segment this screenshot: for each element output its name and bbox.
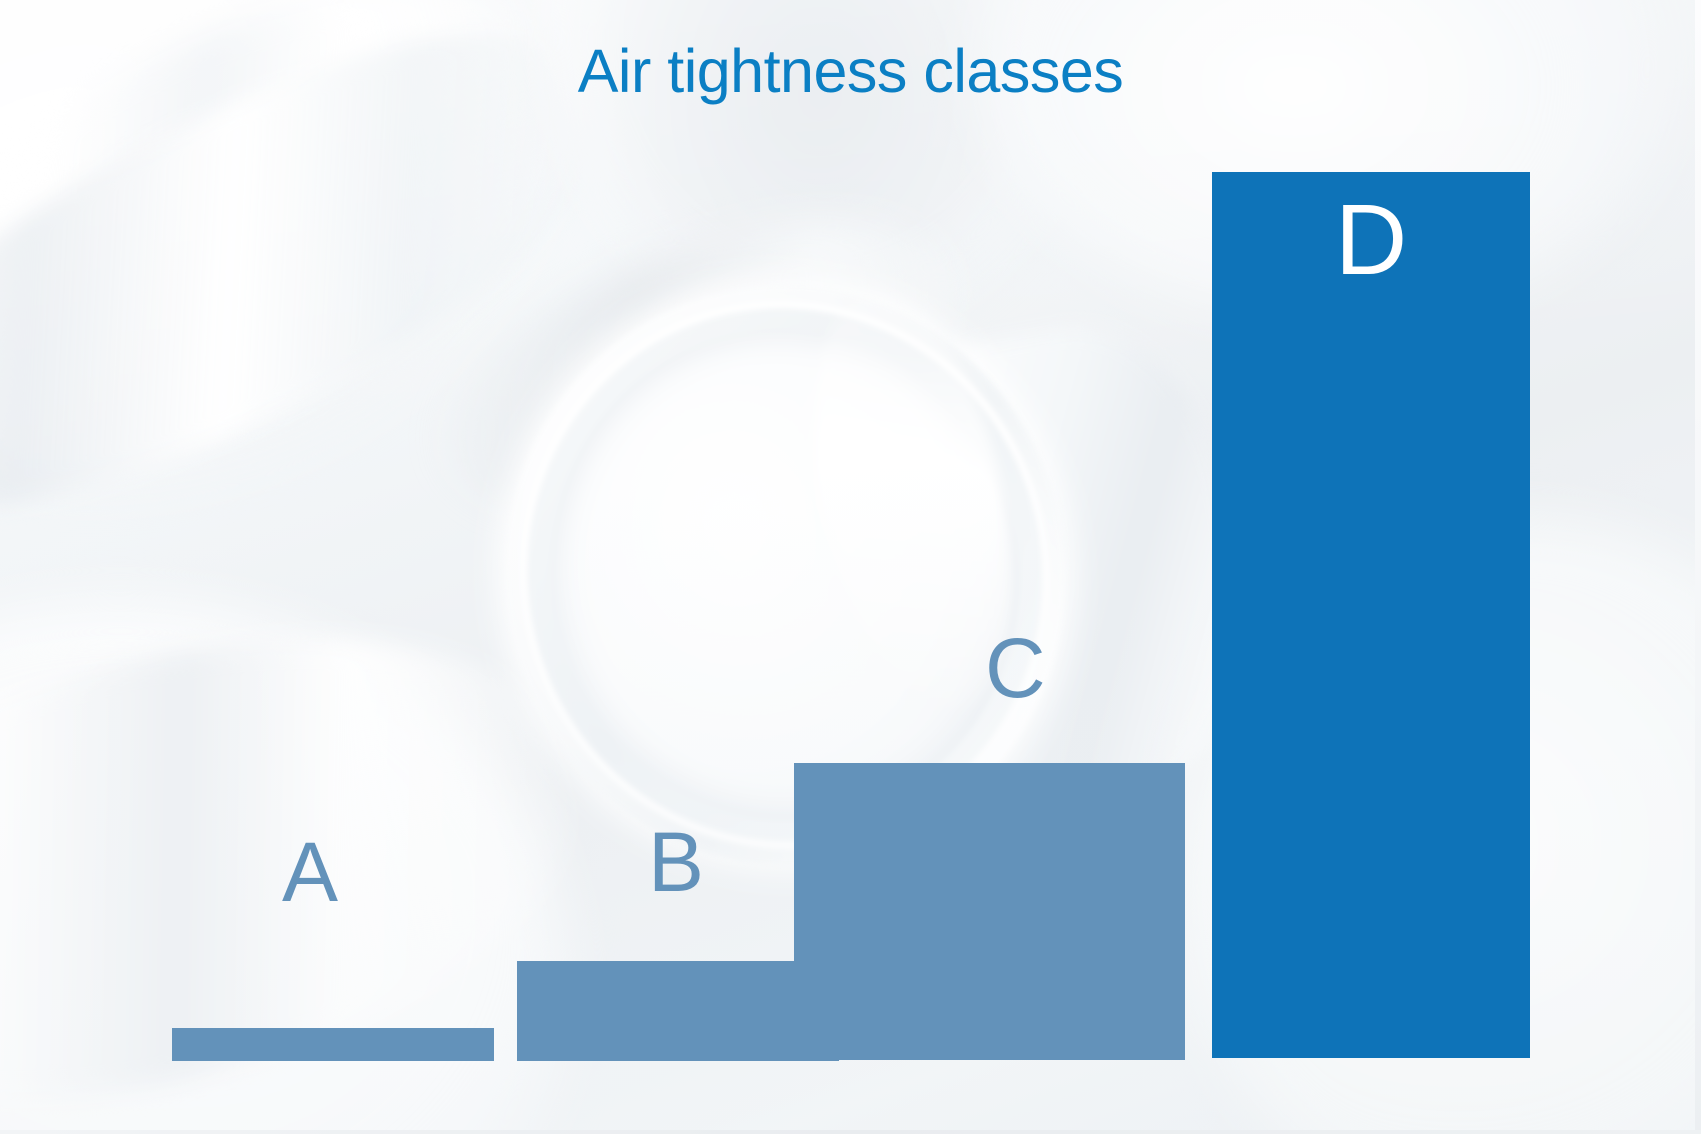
bar-b	[517, 961, 839, 1061]
bar-label-a: A	[282, 830, 338, 914]
bar-a	[172, 1028, 494, 1061]
bar-label-d: D	[1335, 190, 1407, 290]
bar-c	[794, 763, 1185, 1060]
bar-label-c: C	[985, 626, 1046, 710]
bar-label-b: B	[648, 820, 704, 904]
bar-d	[1212, 172, 1530, 1058]
bar-chart-plot-area: A B C D	[0, 0, 1701, 1134]
slide-canvas: Air tightness classes A B C D	[0, 0, 1701, 1134]
